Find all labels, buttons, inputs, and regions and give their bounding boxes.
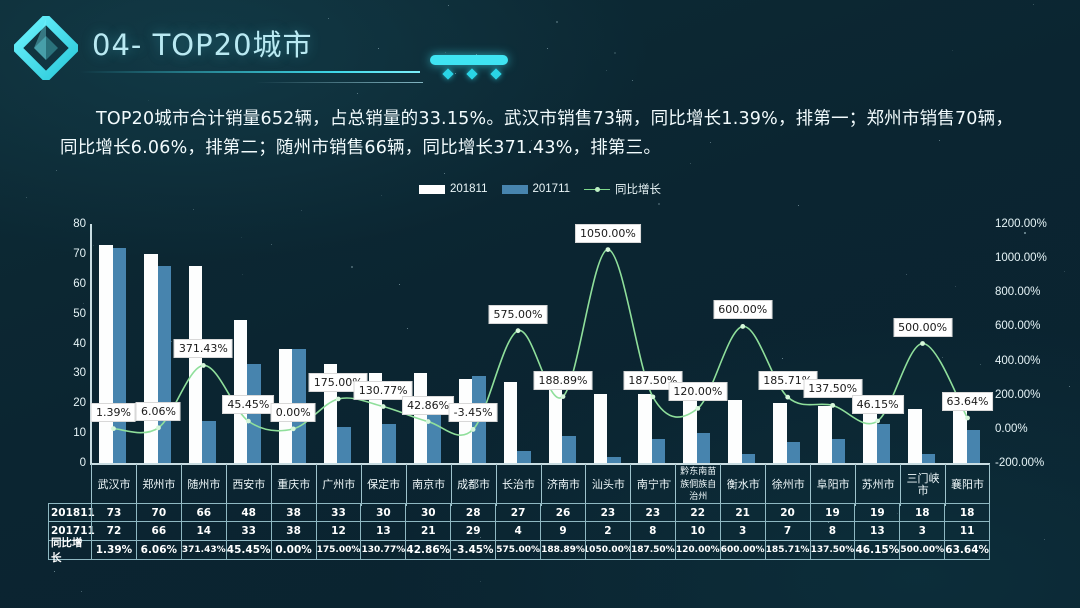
y-tick-label: 50 — [73, 308, 86, 320]
table-cell: -3.45% — [450, 541, 495, 560]
table-cell: 42.86% — [405, 541, 450, 560]
growth-data-point — [471, 427, 476, 432]
x-axis-category-labels: 武汉市郑州市随州市西安市重庆市广州市保定市南京市成都市长治市济南市汕头市南宁市黔… — [91, 464, 990, 506]
page-title: 04- TOP20城市 — [92, 22, 313, 64]
table-cell: 45.45% — [226, 541, 271, 560]
plot-area: 01020304050607080 -200.00%0.00%200.00%40… — [0, 224, 1080, 524]
table-cell: 19 — [854, 503, 899, 522]
growth-data-point — [156, 425, 161, 430]
table-cell: 175.00% — [316, 541, 361, 560]
table-cell: 6.06% — [136, 541, 181, 560]
table-cell: 23 — [585, 503, 630, 522]
table-cell: 13 — [360, 522, 405, 541]
growth-line-series — [91, 224, 990, 463]
decorative-diamond-icon-1 — [442, 68, 453, 79]
growth-line-path — [113, 250, 967, 436]
table-cell: 21 — [405, 522, 450, 541]
y-tick-label: 60 — [73, 278, 86, 290]
x-category-label: 襄阳市 — [945, 464, 990, 506]
y2-tick-label: 400.00% — [995, 355, 1040, 367]
legend-item-201711: 201711 — [502, 183, 571, 195]
table-cell: 575.00% — [495, 541, 540, 560]
data-table: 2018117370664838333030282726232322212019… — [48, 503, 990, 561]
table-cell: 1.39% — [91, 541, 136, 560]
y2-tick-label: 1200.00% — [995, 218, 1047, 230]
table-cell: 38 — [271, 522, 316, 541]
growth-data-point — [291, 426, 296, 431]
x-category-label: 武汉市 — [91, 464, 136, 506]
table-cell: 38 — [271, 503, 316, 522]
table-cell: 3 — [899, 522, 944, 541]
table-cell: 13 — [854, 522, 899, 541]
y-tick-label: 20 — [73, 397, 86, 409]
x-category-label: 南京市 — [406, 464, 451, 506]
table-cell: 19 — [810, 503, 855, 522]
legend-swatch-growth — [584, 185, 610, 194]
table-cell: 30 — [405, 503, 450, 522]
title-underline-secondary — [255, 82, 423, 83]
growth-data-point — [111, 426, 116, 431]
table-cell: 8 — [630, 522, 675, 541]
table-row-header: 201811 — [48, 503, 91, 522]
table-row: 同比增长1.39%6.06%371.43%45.45%0.00%175.00%1… — [48, 541, 990, 560]
y2-tick-label: 1000.00% — [995, 252, 1047, 264]
growth-data-point — [336, 397, 341, 402]
x-category-label: 阜阳市 — [810, 464, 855, 506]
y-tick-label: 0 — [80, 457, 86, 469]
x-category-label: 长治市 — [496, 464, 541, 506]
table-cell: 33 — [226, 522, 271, 541]
decorative-diamond-icon-3 — [490, 68, 501, 79]
growth-data-point — [695, 406, 700, 411]
table-cell: 500.00% — [899, 541, 944, 560]
x-category-label: 苏州市 — [855, 464, 900, 506]
y2-tick-label: 0.00% — [995, 423, 1028, 435]
y-tick-label: 70 — [73, 248, 86, 260]
growth-data-point — [516, 328, 521, 333]
decorative-diamond-icon-2 — [466, 68, 477, 79]
table-cell: 14 — [181, 522, 226, 541]
chart-container: 201811 201711 同比增长 01020304050607080 -20… — [0, 178, 1080, 598]
y-axis-right-labels: -200.00%0.00%200.00%400.00%600.00%800.00… — [995, 224, 1075, 462]
table-cell: 4 — [495, 522, 540, 541]
table-cell: 130.77% — [360, 541, 405, 560]
chart-legend: 201811 201711 同比增长 — [0, 178, 1080, 200]
growth-data-point — [875, 419, 880, 424]
x-category-label: 成都市 — [451, 464, 496, 506]
table-cell: 63.64% — [944, 541, 990, 560]
table-cell: 12 — [316, 522, 361, 541]
x-category-label: 衡水市 — [720, 464, 765, 506]
table-cell: 8 — [810, 522, 855, 541]
slide-header: 04- TOP20城市 — [0, 0, 1080, 95]
table-cell: 600.00% — [720, 541, 765, 560]
table-cell: 48 — [226, 503, 271, 522]
table-cell: 7 — [765, 522, 810, 541]
table-cell: 371.43% — [181, 541, 226, 560]
legend-swatch-201811 — [419, 185, 445, 194]
table-cell: 18 — [899, 503, 944, 522]
legend-item-201811: 201811 — [419, 183, 488, 195]
table-cell: 26 — [540, 503, 585, 522]
x-category-label: 徐州市 — [765, 464, 810, 506]
growth-data-point — [426, 419, 431, 424]
growth-data-point — [201, 363, 206, 368]
table-cell: 10 — [675, 522, 720, 541]
table-cell: 9 — [540, 522, 585, 541]
table-cell: 30 — [360, 503, 405, 522]
y-tick-label: 40 — [73, 338, 86, 350]
table-cell: 46.15% — [854, 541, 899, 560]
growth-data-point — [606, 247, 611, 252]
table-cell: 27 — [495, 503, 540, 522]
legend-label-201811: 201811 — [450, 183, 488, 195]
growth-data-point — [246, 419, 251, 424]
y-tick-label: 80 — [73, 218, 86, 230]
table-cell: 120.00% — [675, 541, 720, 560]
table-cell: 21 — [720, 503, 765, 522]
x-category-label: 广州市 — [316, 464, 361, 506]
table-cell: 66 — [136, 522, 181, 541]
diamond-logo-icon — [14, 16, 78, 80]
legend-label-201711: 201711 — [533, 183, 571, 195]
growth-data-point — [920, 341, 925, 346]
table-cell: 20 — [765, 503, 810, 522]
table-cell: 29 — [450, 522, 495, 541]
y2-tick-label: 800.00% — [995, 286, 1040, 298]
decorative-bar — [430, 55, 508, 65]
table-cell: 188.89% — [540, 541, 585, 560]
table-cell: 187.50% — [630, 541, 675, 560]
growth-data-point — [965, 416, 970, 421]
y2-tick-label: 200.00% — [995, 389, 1040, 401]
legend-label-growth: 同比增长 — [615, 181, 661, 197]
legend-swatch-201711 — [502, 185, 528, 194]
x-category-label: 济南市 — [541, 464, 586, 506]
table-cell: 185.71% — [765, 541, 810, 560]
slide: 04- TOP20城市 TOP20城市合计销量652辆，占总销量的33.15%。… — [0, 0, 1080, 608]
growth-data-point — [740, 324, 745, 329]
table-cell: 70 — [136, 503, 181, 522]
x-category-label: 南宁市 — [630, 464, 675, 506]
table-cell: 73 — [91, 503, 136, 522]
x-category-label: 西安市 — [226, 464, 271, 506]
x-category-label: 郑州市 — [136, 464, 181, 506]
y2-tick-label: 600.00% — [995, 320, 1040, 332]
table-cell: 33 — [316, 503, 361, 522]
table-row: 20171172661433381213212949281037813311 — [48, 522, 990, 541]
table-row-header: 同比增长 — [48, 541, 91, 560]
table-cell: 72 — [91, 522, 136, 541]
x-category-label: 保定市 — [361, 464, 406, 506]
x-category-label: 随州市 — [181, 464, 226, 506]
y2-tick-label: -200.00% — [995, 457, 1044, 469]
table-cell: 66 — [181, 503, 226, 522]
growth-data-point — [381, 404, 386, 409]
y-tick-label: 10 — [73, 427, 86, 439]
table-cell: 137.50% — [810, 541, 855, 560]
table-cell: 23 — [630, 503, 675, 522]
summary-paragraph: TOP20城市合计销量652辆，占总销量的33.15%。武汉市销售73辆，同比增… — [60, 105, 1025, 163]
growth-data-point — [561, 394, 566, 399]
table-row: 2018117370664838333030282726232322212019… — [48, 503, 990, 522]
y-axis-left-labels: 01020304050607080 — [58, 224, 86, 462]
x-category-label: 重庆市 — [271, 464, 316, 506]
table-cell: 18 — [944, 503, 990, 522]
y-tick-label: 30 — [73, 367, 86, 379]
table-cell: 22 — [675, 503, 720, 522]
table-cell: 11 — [944, 522, 990, 541]
table-cell: 1050.00% — [585, 541, 630, 560]
title-underline — [80, 71, 420, 73]
growth-data-point — [650, 394, 655, 399]
x-category-label: 黔东南苗族侗族自治州 — [675, 464, 720, 506]
legend-item-growth: 同比增长 — [584, 181, 661, 197]
x-category-label: 三门峡市 — [900, 464, 945, 506]
table-cell: 2 — [585, 522, 630, 541]
growth-data-point — [785, 395, 790, 400]
x-category-label: 汕头市 — [585, 464, 630, 506]
table-cell: 28 — [450, 503, 495, 522]
table-cell: 3 — [720, 522, 765, 541]
table-cell: 0.00% — [271, 541, 316, 560]
growth-data-point — [830, 403, 835, 408]
